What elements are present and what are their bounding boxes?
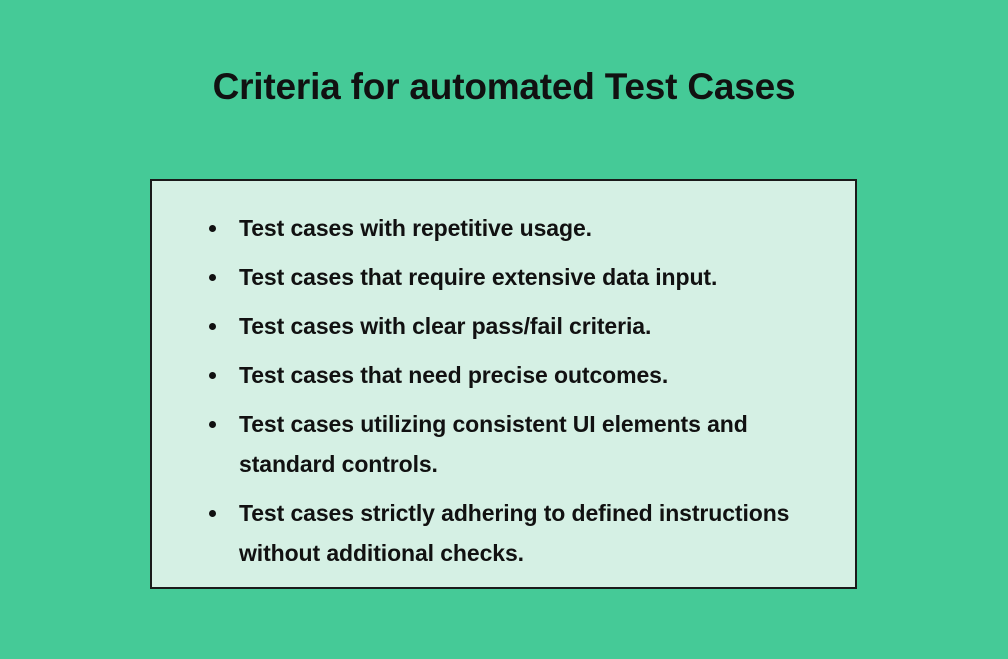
bullet-dot-icon [209, 225, 216, 232]
list-item: Test cases that need precise outcomes. [207, 355, 822, 395]
list-item-label: Test cases with repetitive usage. [239, 215, 592, 241]
page-title: Criteria for automated Test Cases [0, 64, 1008, 110]
bullet-dot-icon [209, 510, 216, 517]
list-item: Test cases with repetitive usage. [207, 208, 822, 248]
list-item: Test cases utilizing consistent UI eleme… [207, 404, 822, 484]
list-item-label: Test cases that require extensive data i… [239, 264, 717, 290]
list-item: Test cases with clear pass/fail criteria… [207, 306, 822, 346]
list-item-label: Test cases with clear pass/fail criteria… [239, 313, 651, 339]
bullet-dot-icon [209, 372, 216, 379]
list-item-label: Test cases utilizing consistent UI eleme… [239, 411, 748, 477]
slide-canvas: Criteria for automated Test Cases Test c… [0, 0, 1008, 659]
bullet-dot-icon [209, 274, 216, 281]
list-item: Test cases strictly adhering to defined … [207, 493, 822, 573]
list-item-label: Test cases strictly adhering to defined … [239, 500, 789, 566]
list-item-label: Test cases that need precise outcomes. [239, 362, 668, 388]
criteria-list: Test cases with repetitive usage. Test c… [207, 208, 822, 573]
criteria-card: Test cases with repetitive usage. Test c… [150, 179, 857, 589]
bullet-dot-icon [209, 421, 216, 428]
bullet-dot-icon [209, 323, 216, 330]
list-item: Test cases that require extensive data i… [207, 257, 822, 297]
